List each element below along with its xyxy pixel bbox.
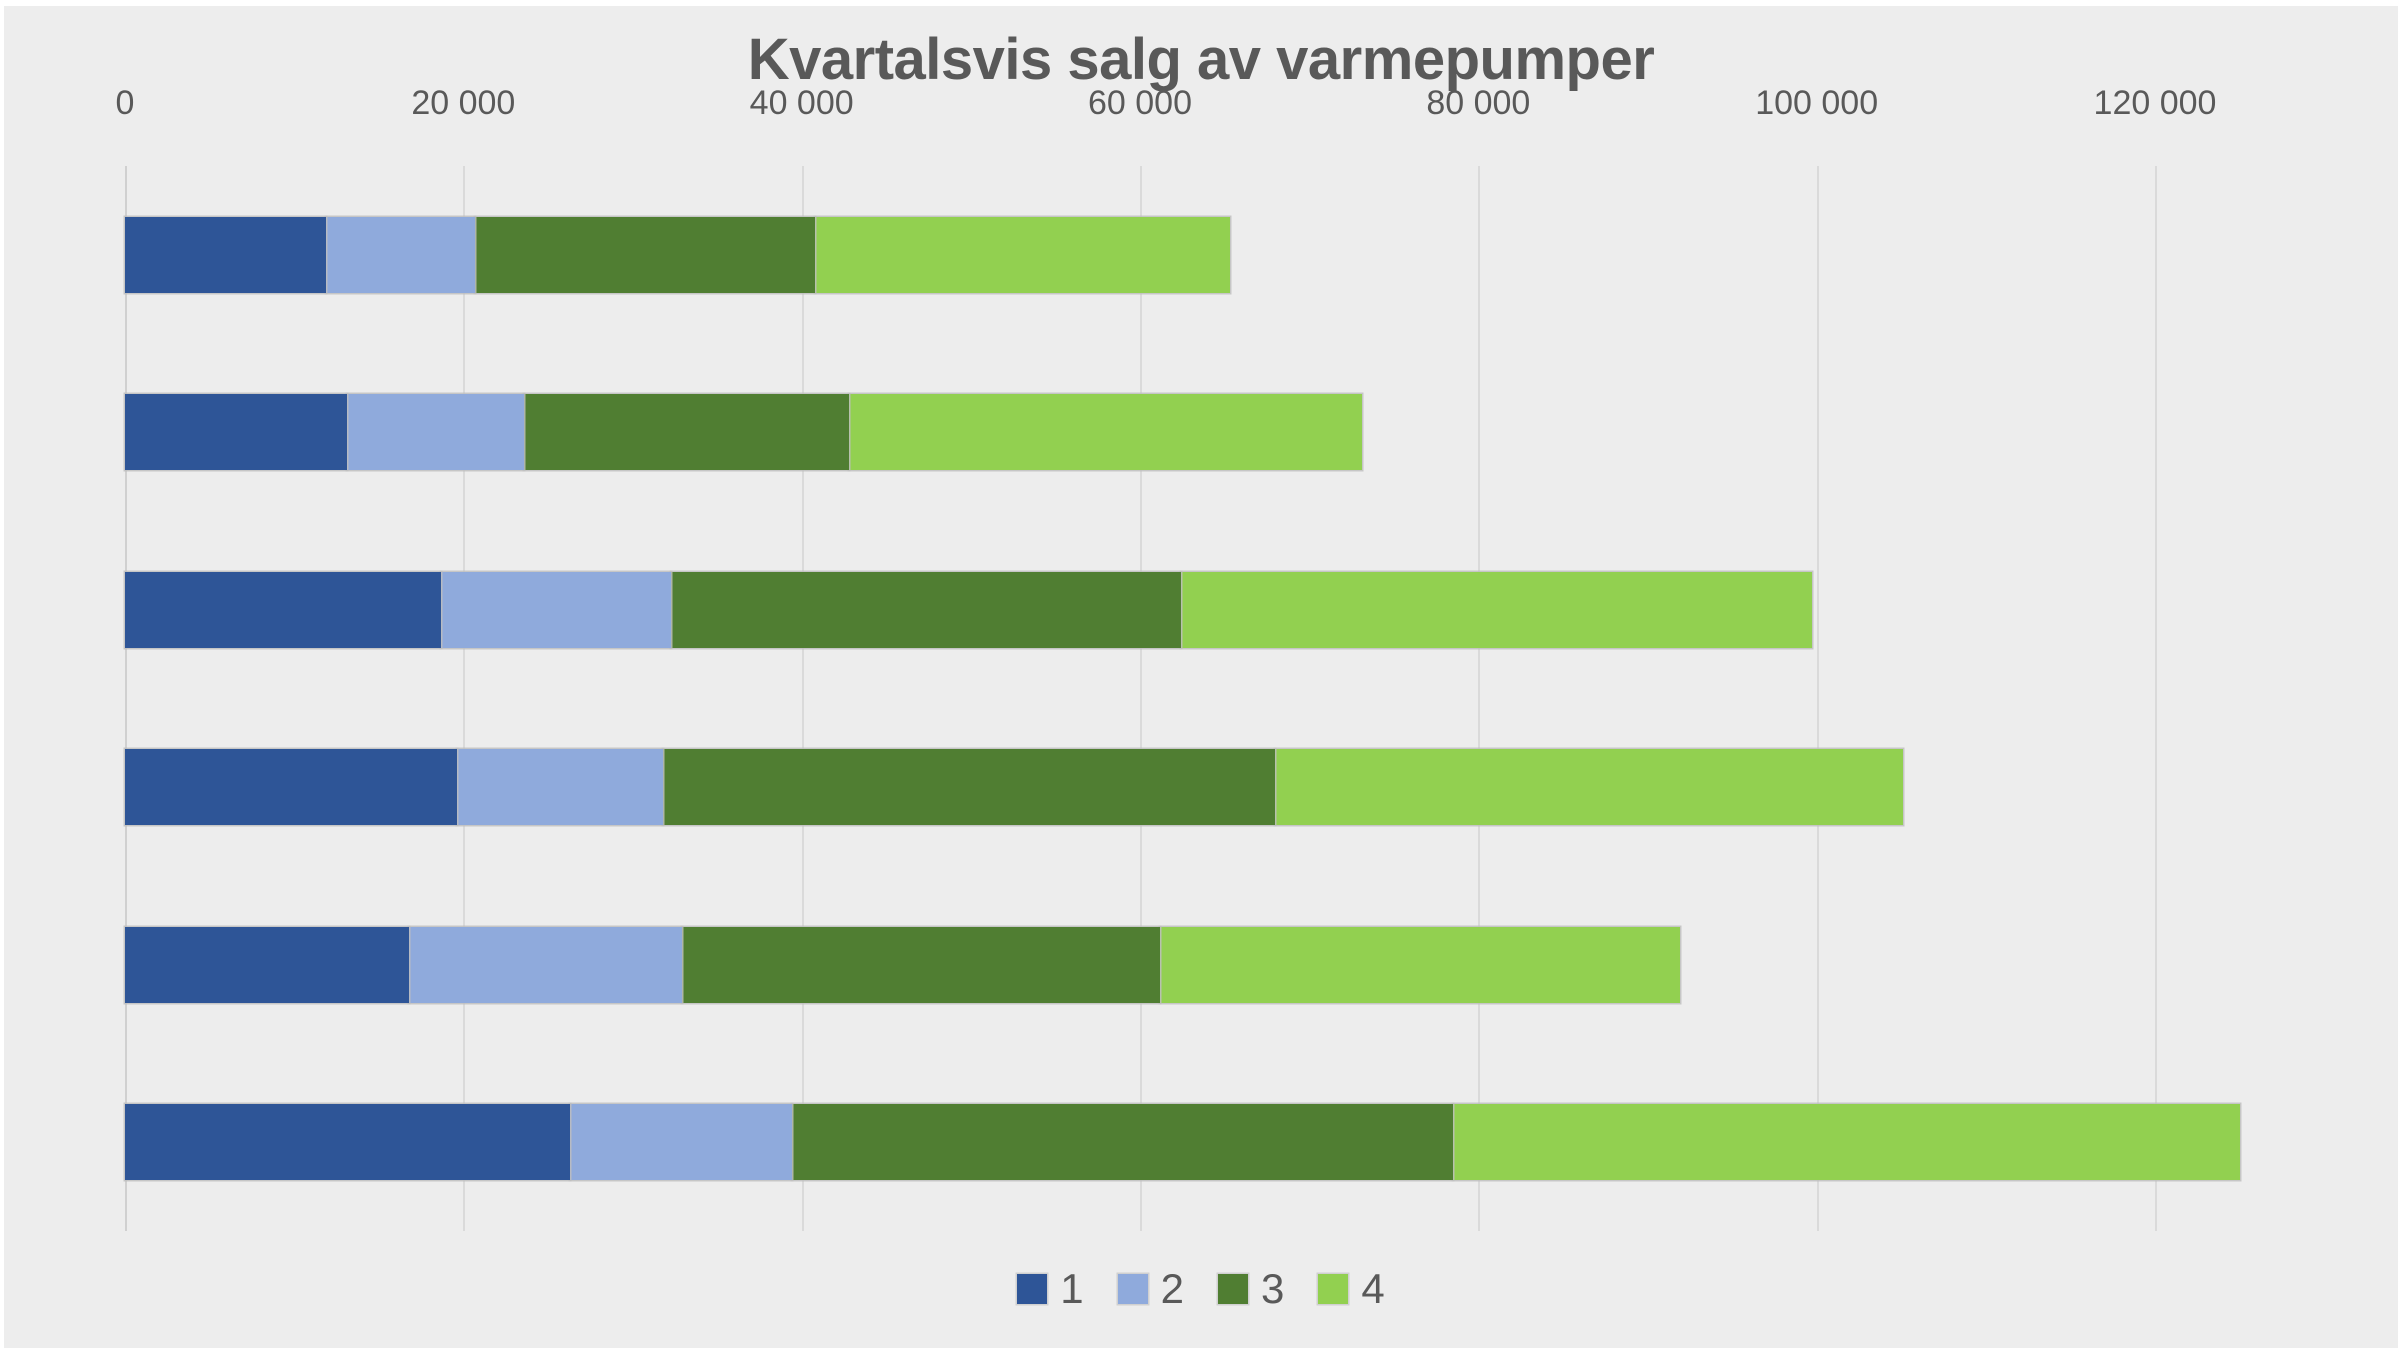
legend-item-3[interactable]: 3 xyxy=(1218,1268,1284,1310)
bar-segment-2020-q1[interactable] xyxy=(125,927,409,1003)
bar-segment-2019-q3[interactable] xyxy=(663,749,1275,825)
legend: 1234 xyxy=(4,1268,2398,1310)
legend-label: 4 xyxy=(1361,1268,1384,1310)
bar-segment-2018-q4[interactable] xyxy=(1181,572,1812,648)
gridline xyxy=(1817,166,1819,1231)
bar-segment-2021-q2[interactable] xyxy=(570,1104,792,1180)
legend-label: 2 xyxy=(1161,1268,1184,1310)
bar-segment-2016-q4[interactable] xyxy=(849,394,1362,470)
gridline xyxy=(1140,166,1142,1231)
legend-swatch-icon xyxy=(1318,1274,1348,1304)
bar-segment-2019-q1[interactable] xyxy=(125,749,457,825)
gridline xyxy=(2155,166,2157,1231)
bar-segment-2019-q4[interactable] xyxy=(1275,749,1903,825)
gridline xyxy=(802,166,804,1231)
x-tick-label: 120 000 xyxy=(2094,84,2217,123)
chart-container: Kvartalsvis salg av varmepumper 020 0004… xyxy=(4,6,2398,1348)
bar-segment-2021-q1[interactable] xyxy=(125,1104,570,1180)
legend-swatch-icon xyxy=(1017,1274,1047,1304)
legend-item-4[interactable]: 4 xyxy=(1318,1268,1384,1310)
x-tick-label: 60 000 xyxy=(1088,84,1192,123)
x-tick-label: 0 xyxy=(116,84,135,123)
bar-segment-2016-q3[interactable] xyxy=(524,394,849,470)
bar-segment-2016-q2[interactable] xyxy=(347,394,525,470)
legend-item-1[interactable]: 1 xyxy=(1017,1268,1083,1310)
bar-segment-2020-q4[interactable] xyxy=(1160,927,1679,1003)
x-tick-label: 40 000 xyxy=(750,84,854,123)
legend-swatch-icon xyxy=(1118,1274,1148,1304)
gridline xyxy=(463,166,465,1231)
legend-item-2[interactable]: 2 xyxy=(1118,1268,1184,1310)
legend-swatch-icon xyxy=(1218,1274,1248,1304)
bar-segment-2016-q1[interactable] xyxy=(125,394,347,470)
bar-segment-2018-q2[interactable] xyxy=(441,572,671,648)
bar-segment-2020-q2[interactable] xyxy=(409,927,681,1003)
legend-label: 3 xyxy=(1261,1268,1284,1310)
x-tick-label: 100 000 xyxy=(1755,84,1878,123)
legend-label: 1 xyxy=(1060,1268,1083,1310)
bar-segment-2021-q4[interactable] xyxy=(1453,1104,2240,1180)
bar-segment-2018-q3[interactable] xyxy=(671,572,1180,648)
bar-segment-2020-q3[interactable] xyxy=(682,927,1161,1003)
bar-segment-2019-q2[interactable] xyxy=(457,749,663,825)
bar-segment-2021-q3[interactable] xyxy=(792,1104,1453,1180)
bar-segment-2015-q3[interactable] xyxy=(475,217,815,293)
axis-line-zero xyxy=(125,166,127,1231)
bar-segment-2015-q1[interactable] xyxy=(125,217,326,293)
x-tick-label: 80 000 xyxy=(1426,84,1530,123)
chart-title: Kvartalsvis salg av varmepumper xyxy=(4,26,2398,93)
bar-segment-2018-q1[interactable] xyxy=(125,572,441,648)
plot-area: 020 00040 00060 00080 000100 000120 000 … xyxy=(125,166,2155,1231)
x-tick-label: 20 000 xyxy=(411,84,515,123)
gridline xyxy=(1478,166,1480,1231)
bar-segment-2015-q4[interactable] xyxy=(815,217,1229,293)
bar-segment-2015-q2[interactable] xyxy=(326,217,475,293)
